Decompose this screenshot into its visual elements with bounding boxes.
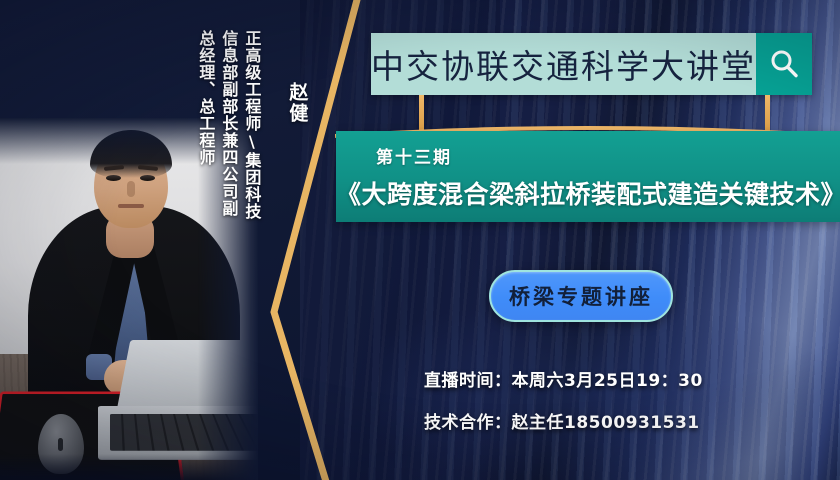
speaker-credential-line-1: 正高级工程师\集团科技 bbox=[243, 30, 259, 220]
poster-canvas: 赵健 正高级工程师\集团科技 信息部副部长兼四公司副 总经理、总工程师 中交协联… bbox=[0, 0, 840, 480]
episode-number: 第十三期 bbox=[376, 143, 452, 168]
speaker-credential-line-3: 总经理、总工程师 bbox=[197, 30, 213, 166]
search-icon[interactable] bbox=[756, 33, 812, 95]
photo-eye-left bbox=[106, 175, 121, 181]
program-title: 中交协联交通科学大讲堂 bbox=[371, 40, 756, 88]
photo-eye-right bbox=[140, 175, 155, 181]
gold-chevron-accent bbox=[262, 0, 372, 480]
contact-text: 技术合作：赵主任18500931531 bbox=[424, 408, 700, 433]
photo-mouth bbox=[118, 204, 144, 208]
speaker-credential-line-2: 信息部副部长兼四公司副 bbox=[220, 30, 236, 217]
program-banner-body: 中交协联交通科学大讲堂 bbox=[371, 33, 756, 95]
topic-badge-label: 桥梁专题讲座 bbox=[509, 281, 653, 311]
broadcast-time-text: 直播时间：本周六3月25日19：30 bbox=[424, 366, 703, 391]
topic-badge-button[interactable]: 桥梁专题讲座 bbox=[489, 270, 673, 322]
lecture-info-band: 第十三期 《大跨度混合梁斜拉桥装配式建造关键技术》 bbox=[336, 131, 840, 222]
program-banner: 中交协联交通科学大讲堂 bbox=[371, 33, 812, 95]
photo-nose bbox=[127, 181, 135, 197]
speaker-name: 赵健 bbox=[287, 82, 306, 124]
lecture-title: 《大跨度混合梁斜拉桥装配式建造关键技术》 bbox=[336, 175, 840, 211]
